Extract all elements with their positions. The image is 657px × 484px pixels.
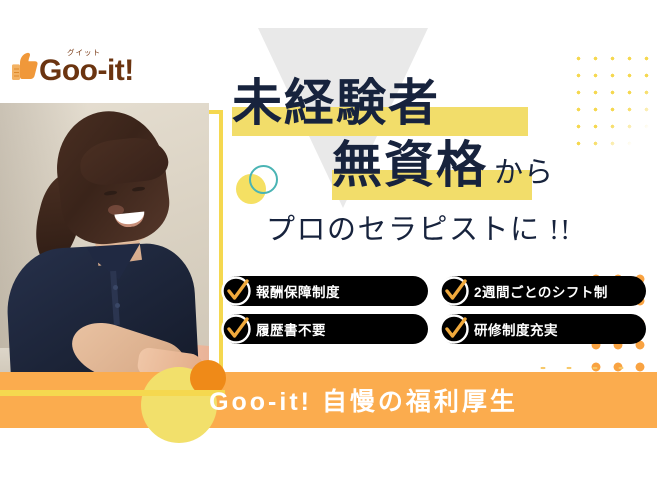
badge-label: 履歴書不要 (256, 319, 326, 339)
therapist-photo (0, 103, 209, 378)
check-circle-icon (218, 273, 254, 309)
badge-training-program[interactable]: 研修制度充実 (440, 314, 646, 344)
badge-label: 2週間ごとのシフト制 (474, 281, 608, 301)
headline-text-kara: から (494, 157, 554, 189)
headline-line-1: 未経験者 (226, 78, 646, 128)
logo-wordmark: Goo-it! (39, 54, 134, 87)
headline-text-mikeikensha: 未経験者 (232, 78, 440, 128)
bottom-banner-title: Goo-it! 自慢の福利厚生 (0, 372, 657, 428)
photo-shirt-button (115, 303, 120, 308)
badge-compensation-guarantee[interactable]: 報酬保障制度 (222, 276, 428, 306)
thumbs-up-icon (12, 52, 38, 86)
headline-line-2: 無資格から (226, 140, 646, 190)
check-circle-icon (436, 311, 472, 347)
headline-text-mushikaku: 無資格 (332, 140, 488, 190)
logo-kana-text: グイット (67, 47, 101, 58)
badge-no-resume-required[interactable]: 履歴書不要 (222, 314, 428, 344)
badge-biweekly-shift[interactable]: 2週間ごとのシフト制 (440, 276, 646, 306)
photo-shirt-button (113, 285, 118, 290)
badge-label: 研修制度充実 (474, 319, 558, 339)
check-circle-icon (218, 311, 254, 347)
check-circle-icon (436, 273, 472, 309)
goo-it-logo[interactable]: グイット Goo-it! (12, 52, 134, 86)
headline-block: 未経験者 無資格から プロのセラピストに !! (226, 78, 646, 248)
feature-badge-list: 報酬保障制度 2週間ごとのシフト制 履歴書不要 (222, 276, 646, 344)
headline-line-3: プロのセラピストに !! (266, 206, 646, 248)
badge-label: 報酬保障制度 (256, 281, 340, 301)
recruitment-banner: グイット Goo-it! 未経験者 無資格から プロのセラピストに !! (0, 0, 657, 484)
